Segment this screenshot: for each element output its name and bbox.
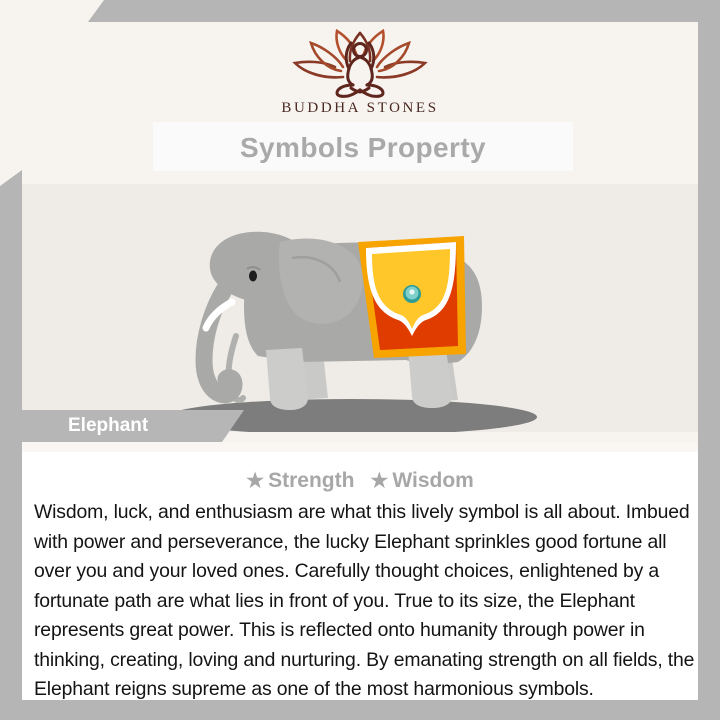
star-icon: ★ xyxy=(246,470,264,492)
symbol-name: Elephant xyxy=(68,410,148,442)
elephant-illustration xyxy=(22,184,698,432)
trait-strength: Strength xyxy=(268,469,354,492)
trait-wisdom: Wisdom xyxy=(392,469,473,492)
frame-border-top xyxy=(104,0,720,22)
elephant-eye xyxy=(249,271,257,282)
trait-list: ★Strength★Wisdom xyxy=(22,468,698,493)
page-title: Symbols Property xyxy=(153,123,573,172)
lotus-meditation-icon xyxy=(285,25,435,99)
frame-corner-top-left-notch xyxy=(88,0,104,22)
brand-name: BUDDHA STONES xyxy=(22,100,698,117)
elephant-front-leg xyxy=(266,348,308,410)
elephant-scene xyxy=(22,184,698,432)
ribbon-tail xyxy=(222,410,244,442)
elephant-hind-leg xyxy=(408,348,452,408)
description-panel: ★Strength★Wisdom Wisdom, luck, and enthu… xyxy=(22,442,698,700)
symbol-name-ribbon: Elephant xyxy=(22,410,698,442)
saddle-gem-highlight xyxy=(409,289,414,294)
header: BUDDHA STONES Symbols Property xyxy=(22,22,698,182)
frame-corner-left-notch xyxy=(0,170,22,186)
frame-border-left xyxy=(0,186,22,720)
elephant-saddle xyxy=(358,236,466,358)
star-icon: ★ xyxy=(370,470,388,492)
description-text: Wisdom, luck, and enthusiasm are what th… xyxy=(34,498,706,705)
panel-top-tint xyxy=(22,442,698,452)
brand-logo xyxy=(22,25,698,104)
infographic-page: BUDDHA STONES Symbols Property xyxy=(0,0,720,720)
content-card: BUDDHA STONES Symbols Property xyxy=(22,22,698,700)
